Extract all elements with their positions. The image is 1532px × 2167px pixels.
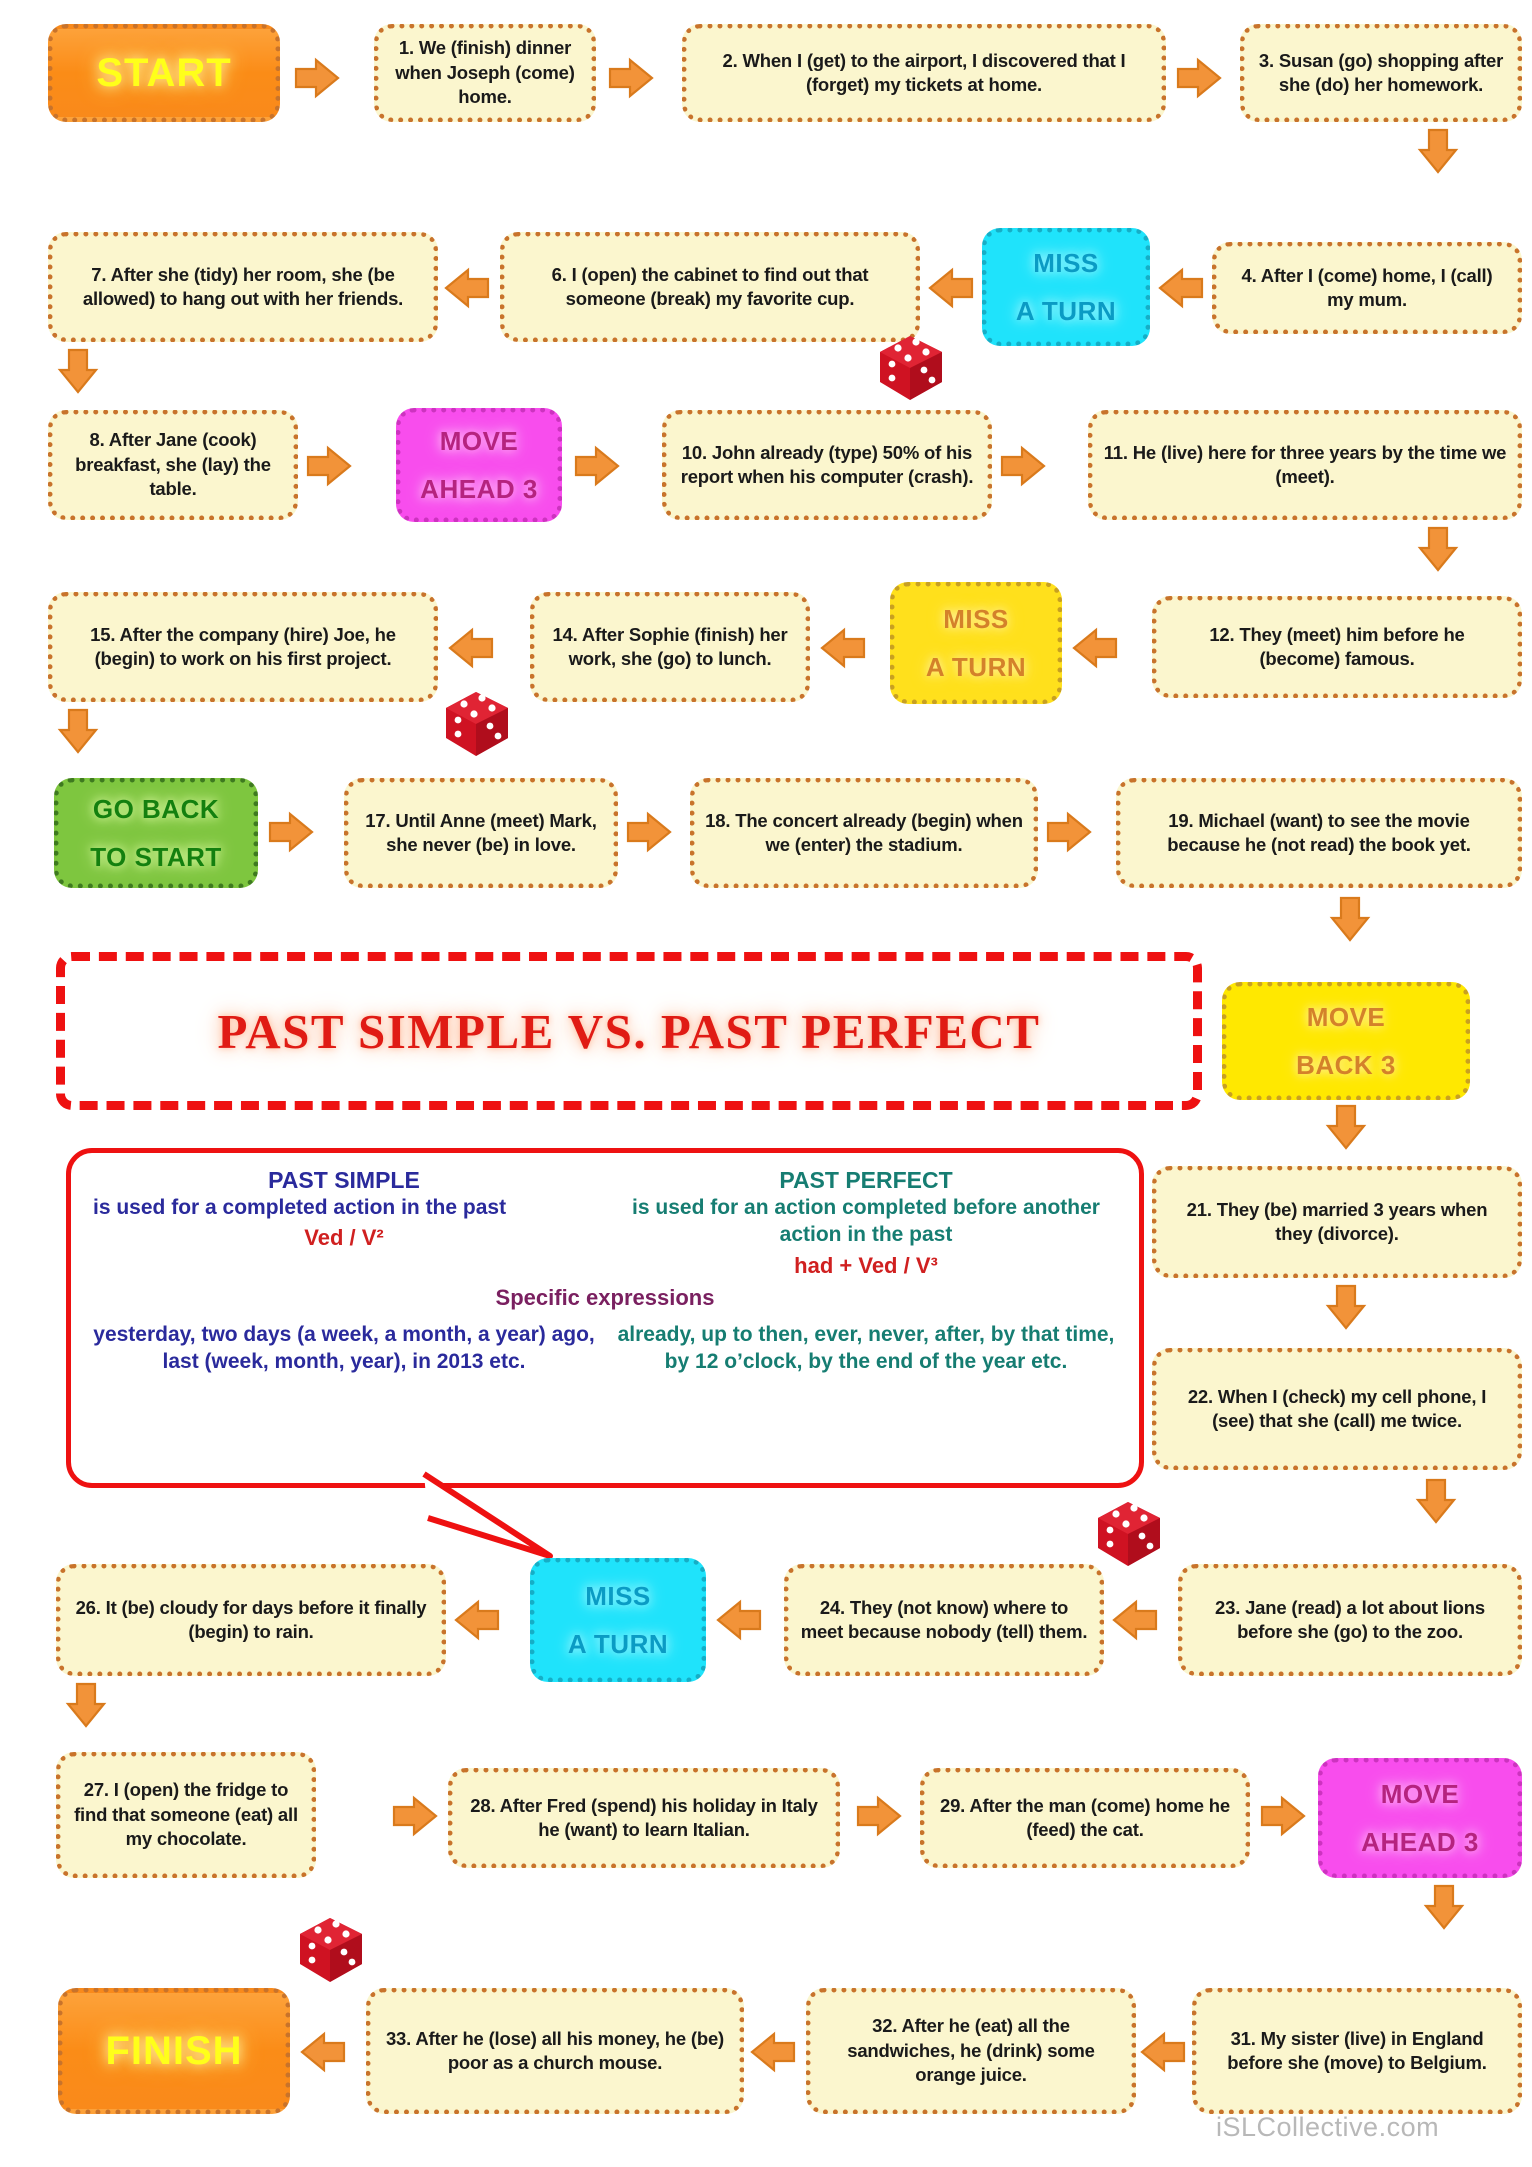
tile-q28[interactable]: 28. After Fred (spend) his holiday in It… <box>448 1768 840 1868</box>
miss-label-line1: MISS <box>1033 246 1099 280</box>
tile-q7[interactable]: 7. After she (tidy) her room, she (be al… <box>48 232 438 342</box>
worksheet-title-banner: PAST SIMPLE VS. PAST PERFECT <box>56 952 1202 1110</box>
start-label: START <box>96 47 231 100</box>
watermark: iSLCollective.com <box>1216 2112 1439 2143</box>
grammar-explanation-bubble: PAST SIMPLE is used for a completed acti… <box>66 1148 1144 1488</box>
tile-q15[interactable]: 15. After the company (hire) Joe, he (be… <box>48 592 438 702</box>
tile-q6[interactable]: 6. I (open) the cabinet to find out that… <box>500 232 920 342</box>
move-label-line1: MOVE <box>1307 1000 1386 1034</box>
past-perfect-header: PAST PERFECT <box>615 1167 1117 1194</box>
finish-label: FINISH <box>105 2025 242 2078</box>
goback-label-line2: TO START <box>90 840 222 874</box>
move-label-line2: AHEAD 3 <box>420 472 538 506</box>
past-simple-form: Ved / V² <box>93 1225 595 1251</box>
miss-label-line2: A TURN <box>568 1627 668 1661</box>
tile-q1[interactable]: 1. We (finish) dinner when Joseph (come)… <box>374 24 596 122</box>
miss-label-line1: MISS <box>943 602 1009 636</box>
tile-move-ahead-3-bottom[interactable]: MOVE AHEAD 3 <box>1318 1758 1522 1878</box>
tile-miss-a-turn-1[interactable]: MISS A TURN <box>982 228 1150 346</box>
tile-miss-a-turn-3[interactable]: MISS A TURN <box>530 1558 706 1682</box>
tile-q17[interactable]: 17. Until Anne (meet) Mark, she never (b… <box>344 778 618 888</box>
tile-q8[interactable]: 8. After Jane (cook) breakfast, she (lay… <box>48 410 298 520</box>
tile-q27[interactable]: 27. I (open) the fridge to find that som… <box>56 1752 316 1878</box>
page-title: PAST SIMPLE VS. PAST PERFECT <box>217 1003 1040 1060</box>
tile-go-back-to-start[interactable]: GO BACK TO START <box>54 778 258 888</box>
tile-q18[interactable]: 18. The concert already (begin) when we … <box>690 778 1038 888</box>
tile-q2[interactable]: 2. When I (get) to the airport, I discov… <box>682 24 1166 122</box>
miss-label-line2: A TURN <box>1016 294 1116 328</box>
dice-icon-2 <box>438 686 516 760</box>
tile-q33[interactable]: 33. After he (lose) all his money, he (b… <box>366 1988 744 2114</box>
tile-q24[interactable]: 24. They (not know) where to meet becaus… <box>784 1564 1104 1676</box>
tile-miss-a-turn-2[interactable]: MISS A TURN <box>890 582 1062 704</box>
move-label-line2: BACK 3 <box>1296 1048 1396 1082</box>
move-label-line2: AHEAD 3 <box>1361 1825 1479 1859</box>
tile-q11[interactable]: 11. He (live) here for three years by th… <box>1088 410 1522 520</box>
move-label-line1: MOVE <box>1381 1777 1460 1811</box>
dice-icon-3 <box>1090 1496 1168 1570</box>
past-simple-header: PAST SIMPLE <box>93 1167 595 1194</box>
bubble-tail <box>420 1470 560 1565</box>
past-perfect-expressions: already, up to then, ever, never, after,… <box>615 1321 1117 1376</box>
tile-q21[interactable]: 21. They (be) married 3 years when they … <box>1152 1166 1522 1278</box>
tile-q23[interactable]: 23. Jane (read) a lot about lions before… <box>1178 1564 1522 1676</box>
tile-q26[interactable]: 26. It (be) cloudy for days before it fi… <box>56 1564 446 1676</box>
tile-q10[interactable]: 10. John already (type) 50% of his repor… <box>662 410 992 520</box>
past-simple-expressions: yesterday, two days (a week, a month, a … <box>93 1321 595 1376</box>
past-simple-description: is used for a completed action in the pa… <box>93 1194 595 1221</box>
miss-label-line1: MISS <box>585 1579 651 1613</box>
tile-move-back-3[interactable]: MOVE BACK 3 <box>1222 982 1470 1100</box>
past-perfect-description: is used for an action completed before a… <box>615 1194 1117 1249</box>
move-label-line1: MOVE <box>440 424 519 458</box>
goback-label-line1: GO BACK <box>93 792 219 826</box>
specific-expressions-label: Specific expressions <box>93 1285 1117 1311</box>
game-board: START 1. We (finish) dinner when Joseph … <box>0 0 1532 2167</box>
tile-q29[interactable]: 29. After the man (come) home he (feed) … <box>920 1768 1250 1868</box>
tile-q19[interactable]: 19. Michael (want) to see the movie beca… <box>1116 778 1522 888</box>
dice-icon-4 <box>292 1912 370 1986</box>
tile-q3[interactable]: 3. Susan (go) shopping after she (do) he… <box>1240 24 1522 122</box>
tile-q14[interactable]: 14. After Sophie (finish) her work, she … <box>530 592 810 702</box>
tile-q31[interactable]: 31. My sister (live) in England before s… <box>1192 1988 1522 2114</box>
tile-q32[interactable]: 32. After he (eat) all the sandwiches, h… <box>806 1988 1136 2114</box>
tile-finish[interactable]: FINISH <box>58 1988 290 2114</box>
tile-q22[interactable]: 22. When I (check) my cell phone, I (see… <box>1152 1348 1522 1470</box>
past-perfect-form: had + Ved / V³ <box>615 1253 1117 1279</box>
tile-q12[interactable]: 12. They (meet) him before he (become) f… <box>1152 596 1522 698</box>
tile-start[interactable]: START <box>48 24 280 122</box>
dice-icon-1 <box>872 330 950 404</box>
miss-label-line2: A TURN <box>926 650 1026 684</box>
tile-q4[interactable]: 4. After I (come) home, I (call) my mum. <box>1212 242 1522 334</box>
tile-move-ahead-3-top[interactable]: MOVE AHEAD 3 <box>396 408 562 522</box>
